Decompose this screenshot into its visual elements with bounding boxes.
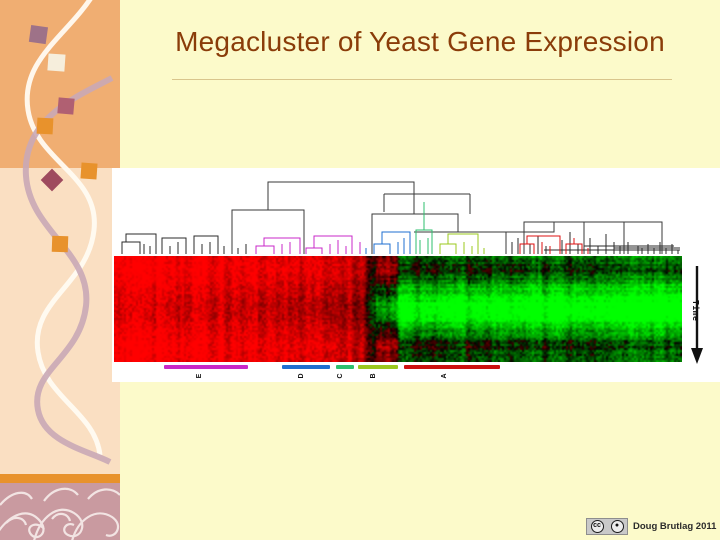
page-title: Megacluster of Yeast Gene Expression [130,26,710,58]
cluster-bar-e [164,365,248,369]
credit-block: cc ● Doug Brutlag 2011 [586,518,716,535]
cluster-label-a: A [441,371,449,381]
marker-rose [57,97,74,114]
heatmap-canvas [114,256,682,362]
marker-cream [47,53,65,71]
credit-text: Doug Brutlag 2011 [633,521,716,532]
marker-orange-3 [52,236,69,253]
sidebar-divider-rule [0,474,120,483]
marker-maroon [41,169,64,192]
cluster-label-e: E [196,371,204,381]
decorative-sidebar [0,0,120,540]
marker-mauve-1 [29,25,48,44]
expression-heatmap [114,256,682,362]
marker-orange-2 [80,162,97,179]
cc-glyph-by: ● [611,520,624,533]
marker-orange-1 [37,118,54,135]
title-underline-rule [172,79,672,80]
creative-commons-icon[interactable]: cc ● [586,518,628,535]
sidebar-markers [0,0,120,480]
cluster-bar-b [358,365,398,369]
sidebar-bottom-pattern [0,483,120,540]
cluster-bar-c [336,365,354,369]
cluster-bar-a [404,365,500,369]
cluster-label-b: B [370,371,378,381]
cluster-label-c: C [337,371,345,381]
time-axis-label: Time [691,300,700,321]
cluster-bar-d [282,365,330,369]
cc-glyph-cc: cc [591,520,604,533]
cluster-label-d: D [298,371,306,381]
dendrogram [114,172,682,256]
paisley-pattern-icon [0,483,120,540]
slide: Megacluster of Yeast Gene Expression [0,0,720,540]
